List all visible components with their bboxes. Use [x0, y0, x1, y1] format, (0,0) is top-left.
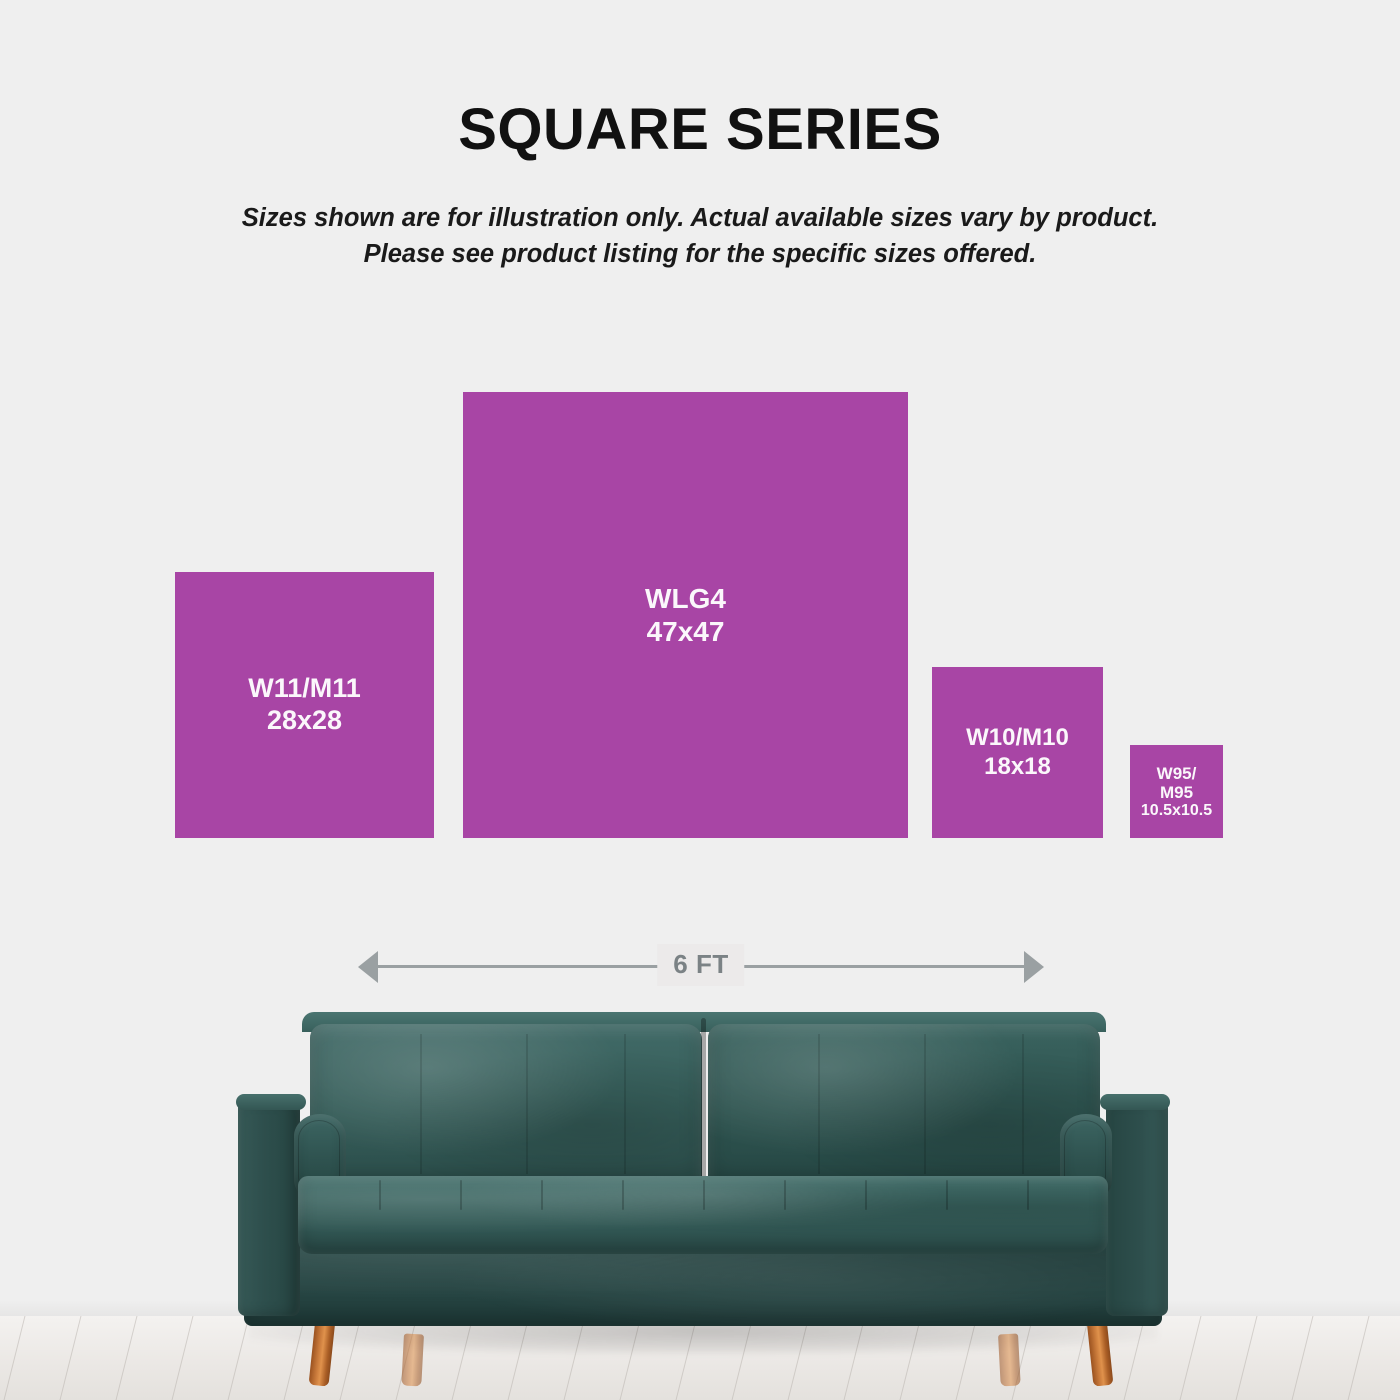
- scale-label: 6 FT: [657, 944, 744, 986]
- sofa-illustration: [238, 1008, 1168, 1378]
- size-swatch-wlg4[interactable]: WLG4 47x47: [463, 392, 908, 838]
- size-swatch-group: W11/M11 28x28 WLG4 47x47 W10/M10 18x18 W…: [0, 0, 1400, 900]
- cushion-fold-line: [818, 1034, 820, 1174]
- swatch-dimensions: 28x28: [267, 705, 342, 737]
- infographic-canvas: SQUARE SERIES Sizes shown are for illust…: [0, 0, 1400, 1400]
- swatch-dimensions: 47x47: [647, 615, 725, 648]
- seat-tuft-mark: [946, 1180, 948, 1210]
- cushion-highlight: [310, 1024, 702, 1192]
- floor-plank-line: [4, 1316, 26, 1400]
- cushion-fold-line: [420, 1034, 422, 1174]
- floor-plank-line: [1292, 1316, 1314, 1400]
- cushion-fold-line: [526, 1034, 528, 1174]
- sofa-arm-right: [1106, 1100, 1168, 1316]
- swatch-dimensions: 10.5x10.5: [1141, 802, 1212, 820]
- seat-tuft-mark: [622, 1180, 624, 1210]
- sofa-arm-left: [238, 1100, 300, 1316]
- scale-reference-arrow: 6 FT: [352, 944, 1050, 990]
- seat-tuft-mark: [460, 1180, 462, 1210]
- cushion-fold-line: [924, 1034, 926, 1174]
- seat-tuft-mark: [379, 1180, 381, 1210]
- size-swatch-w11[interactable]: W11/M11 28x28: [175, 572, 434, 838]
- sofa-leg: [401, 1333, 424, 1386]
- arrow-right-icon: [1024, 951, 1044, 983]
- swatch-code-line-1: W95/: [1157, 764, 1197, 783]
- floor-plank-line: [60, 1316, 82, 1400]
- floor-plank-line: [116, 1316, 138, 1400]
- floor-plank-line: [1180, 1316, 1202, 1400]
- swatch-code: W11/M11: [248, 673, 361, 705]
- swatch-code: WLG4: [645, 582, 726, 615]
- cushion-seam: [701, 1018, 706, 1194]
- size-swatch-w10[interactable]: W10/M10 18x18: [932, 667, 1103, 838]
- seat-tuft-mark: [1027, 1180, 1029, 1210]
- seat-cushion: [298, 1176, 1108, 1254]
- seat-tuft-mark: [784, 1180, 786, 1210]
- floor-plank-line: [172, 1316, 194, 1400]
- size-swatch-w95[interactable]: W95/ M95 10.5x10.5: [1130, 745, 1223, 838]
- cushion-fold-line: [624, 1034, 626, 1174]
- cushion-highlight: [708, 1024, 1100, 1192]
- back-cushion-right: [708, 1024, 1100, 1192]
- back-cushion-left: [310, 1024, 702, 1192]
- cushion-fold-line: [1022, 1034, 1024, 1174]
- swatch-code-line-2: M95: [1160, 783, 1193, 802]
- sofa-arm-top-right: [1100, 1094, 1170, 1110]
- swatch-code: W10/M10: [966, 724, 1069, 752]
- seat-tuft-mark: [865, 1180, 867, 1210]
- swatch-dimensions: 18x18: [984, 753, 1051, 781]
- sofa-leg: [998, 1333, 1021, 1386]
- floor-plank-line: [1348, 1316, 1370, 1400]
- floor-plank-line: [1236, 1316, 1258, 1400]
- seat-tuft-mark: [703, 1180, 705, 1210]
- seat-tuft-mark: [541, 1180, 543, 1210]
- sofa-arm-top-left: [236, 1094, 306, 1110]
